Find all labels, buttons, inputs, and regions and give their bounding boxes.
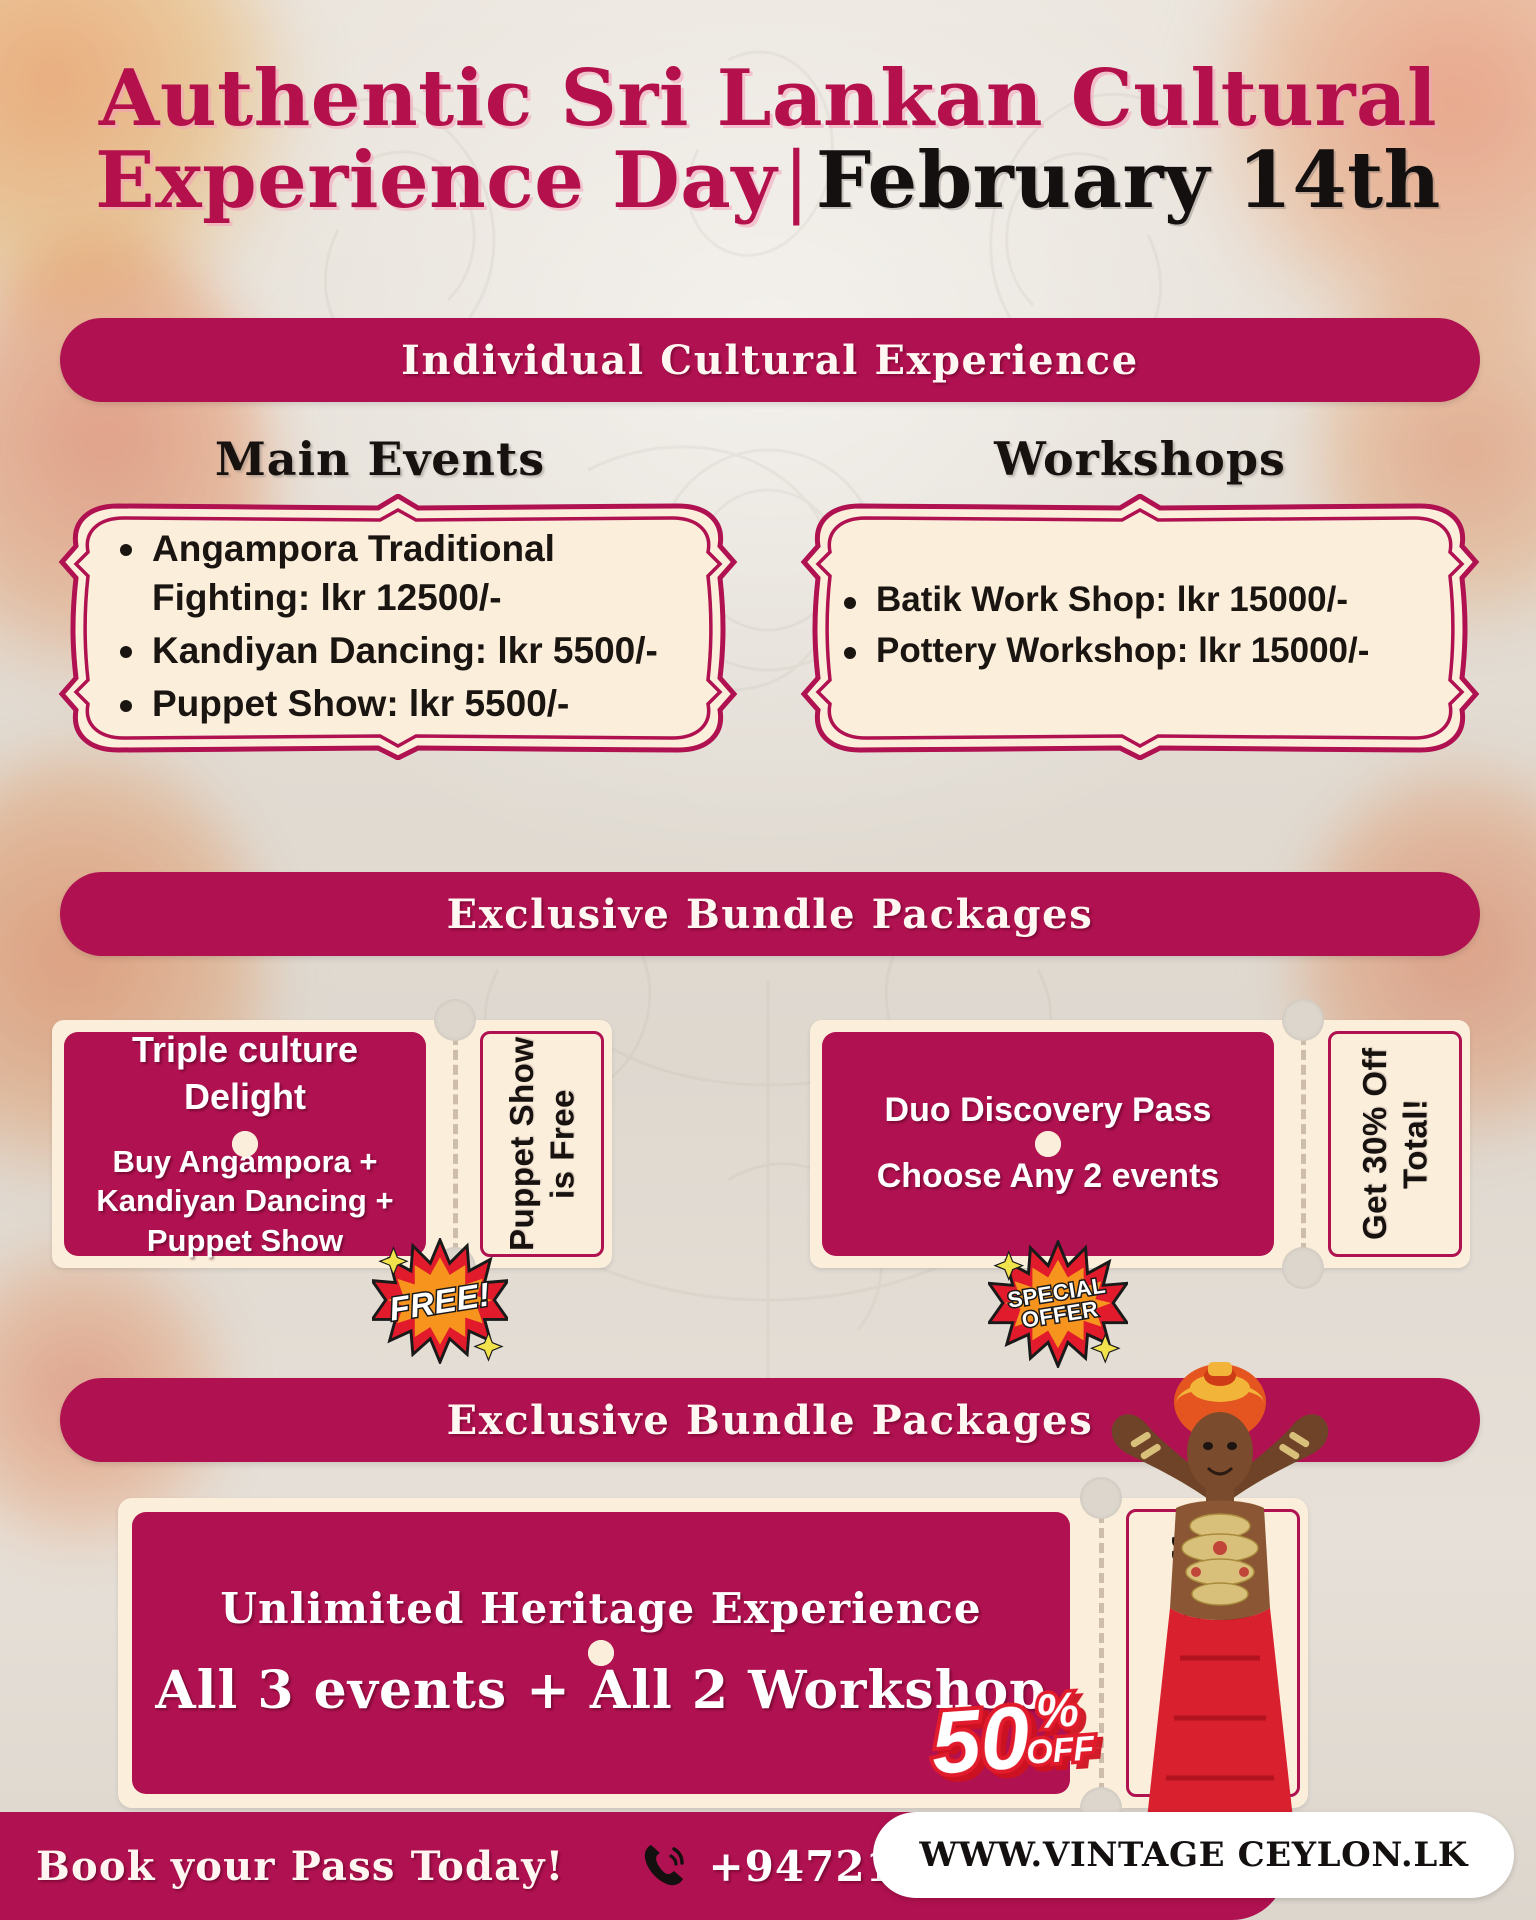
notch-bottom <box>1282 1247 1324 1289</box>
badge-percent-symbol: % <box>1035 1689 1081 1735</box>
list-item: Kandiyan Dancing: lkr 5500/- <box>112 626 712 675</box>
ticket-duo-perforation <box>1286 1020 1320 1268</box>
title-line-2: Experience Day|February 14th <box>44 140 1492 223</box>
footer-website-url: WWW.VINTAGE CEYLON.LK <box>919 1835 1468 1875</box>
card-main-events-body: Angampora Traditional Fighting: lkr 1250… <box>112 528 712 728</box>
poster-title: Authentic Sri Lankan Cultural Experience… <box>0 58 1536 223</box>
heading-workshops: Workshops <box>760 432 1520 486</box>
ticket-triple-culture-delight[interactable]: Triple culture Delight Buy Angampora + K… <box>52 1020 612 1268</box>
list-item: Angampora Traditional Fighting: lkr 1250… <box>112 524 712 622</box>
badge-special-offer-starburst: SPECIAL OFFER <box>988 1240 1128 1368</box>
main-events-list: Angampora Traditional Fighting: lkr 1250… <box>112 524 712 733</box>
title-experience-day: Experience Day <box>95 135 777 226</box>
workshops-list: Batik Work Shop: lkr 15000/- Pottery Wor… <box>836 577 1476 678</box>
poster-canvas: Authentic Sri Lankan Cultural Experience… <box>0 0 1536 1920</box>
list-item: Pottery Workshop: lkr 15000/- <box>836 628 1476 675</box>
ticket-duo-stub: Get 30% Off Total! <box>1320 1020 1470 1268</box>
ticket-duo-discovery-pass[interactable]: Duo Discovery Pass Choose Any 2 events G… <box>810 1020 1470 1268</box>
ticket-triple-stub-label: Puppet Show is Free <box>502 1034 583 1254</box>
badge-off-label: OFF <box>1025 1733 1095 1770</box>
badge-free-starburst: FREE! <box>372 1238 508 1364</box>
card-workshops-body: Batik Work Shop: lkr 15000/- Pottery Wor… <box>836 538 1476 718</box>
banner-individual-label: Individual Cultural Experience <box>401 337 1139 384</box>
ticket-triple-title: Triple culture Delight <box>64 1027 426 1119</box>
footer-website-pill[interactable]: WWW.VINTAGE CEYLON.LK <box>873 1812 1514 1898</box>
ticket-duo-panel: Duo Discovery Pass Choose Any 2 events <box>822 1032 1274 1256</box>
kandyan-dancer-illustration <box>1070 1358 1370 1828</box>
banner-bundle-bottom-label: Exclusive Bundle Packages <box>447 1397 1094 1444</box>
banner-bundle-top-label: Exclusive Bundle Packages <box>447 891 1094 938</box>
perforation-dashes <box>1301 1035 1306 1253</box>
badge-50-number: 50 <box>929 1701 1032 1780</box>
ticket-duo-main: Duo Discovery Pass Choose Any 2 events <box>810 1020 1286 1268</box>
ticket-triple-stub-frame: Puppet Show is Free <box>480 1031 604 1257</box>
title-divider: | <box>777 136 816 226</box>
banner-individual-cultural-experience: Individual Cultural Experience <box>60 318 1480 402</box>
notch-top <box>434 999 476 1041</box>
notch-top <box>1282 999 1324 1041</box>
badge-50-percent-off: 50 % OFF <box>912 1676 1112 1792</box>
ticket-triple-perforation <box>438 1020 472 1268</box>
heading-main-events: Main Events <box>0 432 760 486</box>
footer-cta-label: Book your Pass Today! <box>36 1843 564 1890</box>
badge-50-suffix: % OFF <box>1022 1688 1095 1770</box>
ticket-duo-stub-label: Get 30% Off Total! <box>1355 1034 1436 1254</box>
ticket-duo-stub-frame: Get 30% Off Total! <box>1328 1031 1462 1257</box>
badge-50-off-graphic: 50 % OFF <box>928 1688 1095 1781</box>
ticket-unlimited-title: Unlimited Heritage Experience <box>200 1582 1001 1636</box>
card-main-events: Angampora Traditional Fighting: lkr 1250… <box>48 494 748 760</box>
list-item: Puppet Show: lkr 5500/- <box>112 679 712 728</box>
ticket-triple-stub: Puppet Show is Free <box>472 1020 612 1268</box>
card-workshops: Batik Work Shop: lkr 15000/- Pottery Wor… <box>790 494 1490 760</box>
banner-exclusive-bundle-packages-top: Exclusive Bundle Packages <box>60 872 1480 956</box>
title-date: February 14th <box>816 135 1441 226</box>
perforation-dashes <box>453 1035 458 1253</box>
list-item: Batik Work Shop: lkr 15000/- <box>836 577 1476 624</box>
ticket-triple-panel: Triple culture Delight Buy Angampora + K… <box>64 1032 426 1256</box>
ticket-duo-subtitle: Choose Any 2 events <box>857 1155 1240 1199</box>
title-line-1: Authentic Sri Lankan Cultural <box>44 58 1492 140</box>
phone-icon <box>638 1840 690 1892</box>
ticket-duo-title: Duo Discovery Pass <box>865 1089 1232 1133</box>
ticket-triple-main: Triple culture Delight Buy Angampora + K… <box>52 1020 438 1268</box>
